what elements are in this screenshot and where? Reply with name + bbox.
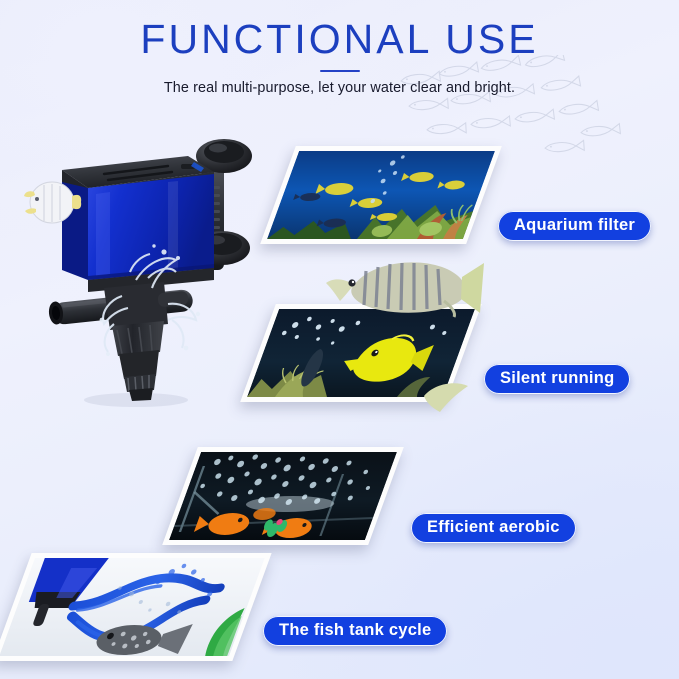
badge-label: Silent running (484, 364, 630, 394)
badge-silent-running[interactable]: Silent running (484, 364, 630, 394)
badge-label: The fish tank cycle (263, 616, 447, 646)
intake-strainer (104, 282, 189, 401)
photo-water-cycle (0, 558, 265, 656)
feature-photo-silent-running[interactable] (240, 304, 482, 402)
pump-product-image (18, 128, 268, 413)
infographic-canvas: FUNCTIONAL USE The real multi-purpose, l… (0, 0, 679, 679)
header: FUNCTIONAL USE The real multi-purpose, l… (0, 0, 679, 96)
photo-bubbles (169, 452, 397, 540)
badge-aquarium-filter[interactable]: Aquarium filter (498, 211, 651, 241)
feature-photo-aquarium-filter[interactable] (260, 146, 502, 244)
photo-reef-bright (267, 151, 495, 239)
pump-body (62, 174, 214, 286)
badge-fish-tank-cycle[interactable]: The fish tank cycle (263, 616, 447, 646)
title-divider (320, 70, 360, 72)
badge-label: Aquarium filter (498, 211, 651, 241)
page-subtitle: The real multi-purpose, let your water c… (0, 80, 679, 96)
angelfish-icon (22, 176, 84, 228)
photo-yellow-tang (247, 309, 475, 397)
badge-efficient-aerobic[interactable]: Efficient aerobic (411, 513, 576, 543)
feature-photo-fish-tank-cycle[interactable] (0, 553, 272, 661)
page-title: FUNCTIONAL USE (0, 0, 679, 61)
badge-label: Efficient aerobic (411, 513, 576, 543)
feature-photo-efficient-aerobic[interactable] (162, 447, 404, 545)
